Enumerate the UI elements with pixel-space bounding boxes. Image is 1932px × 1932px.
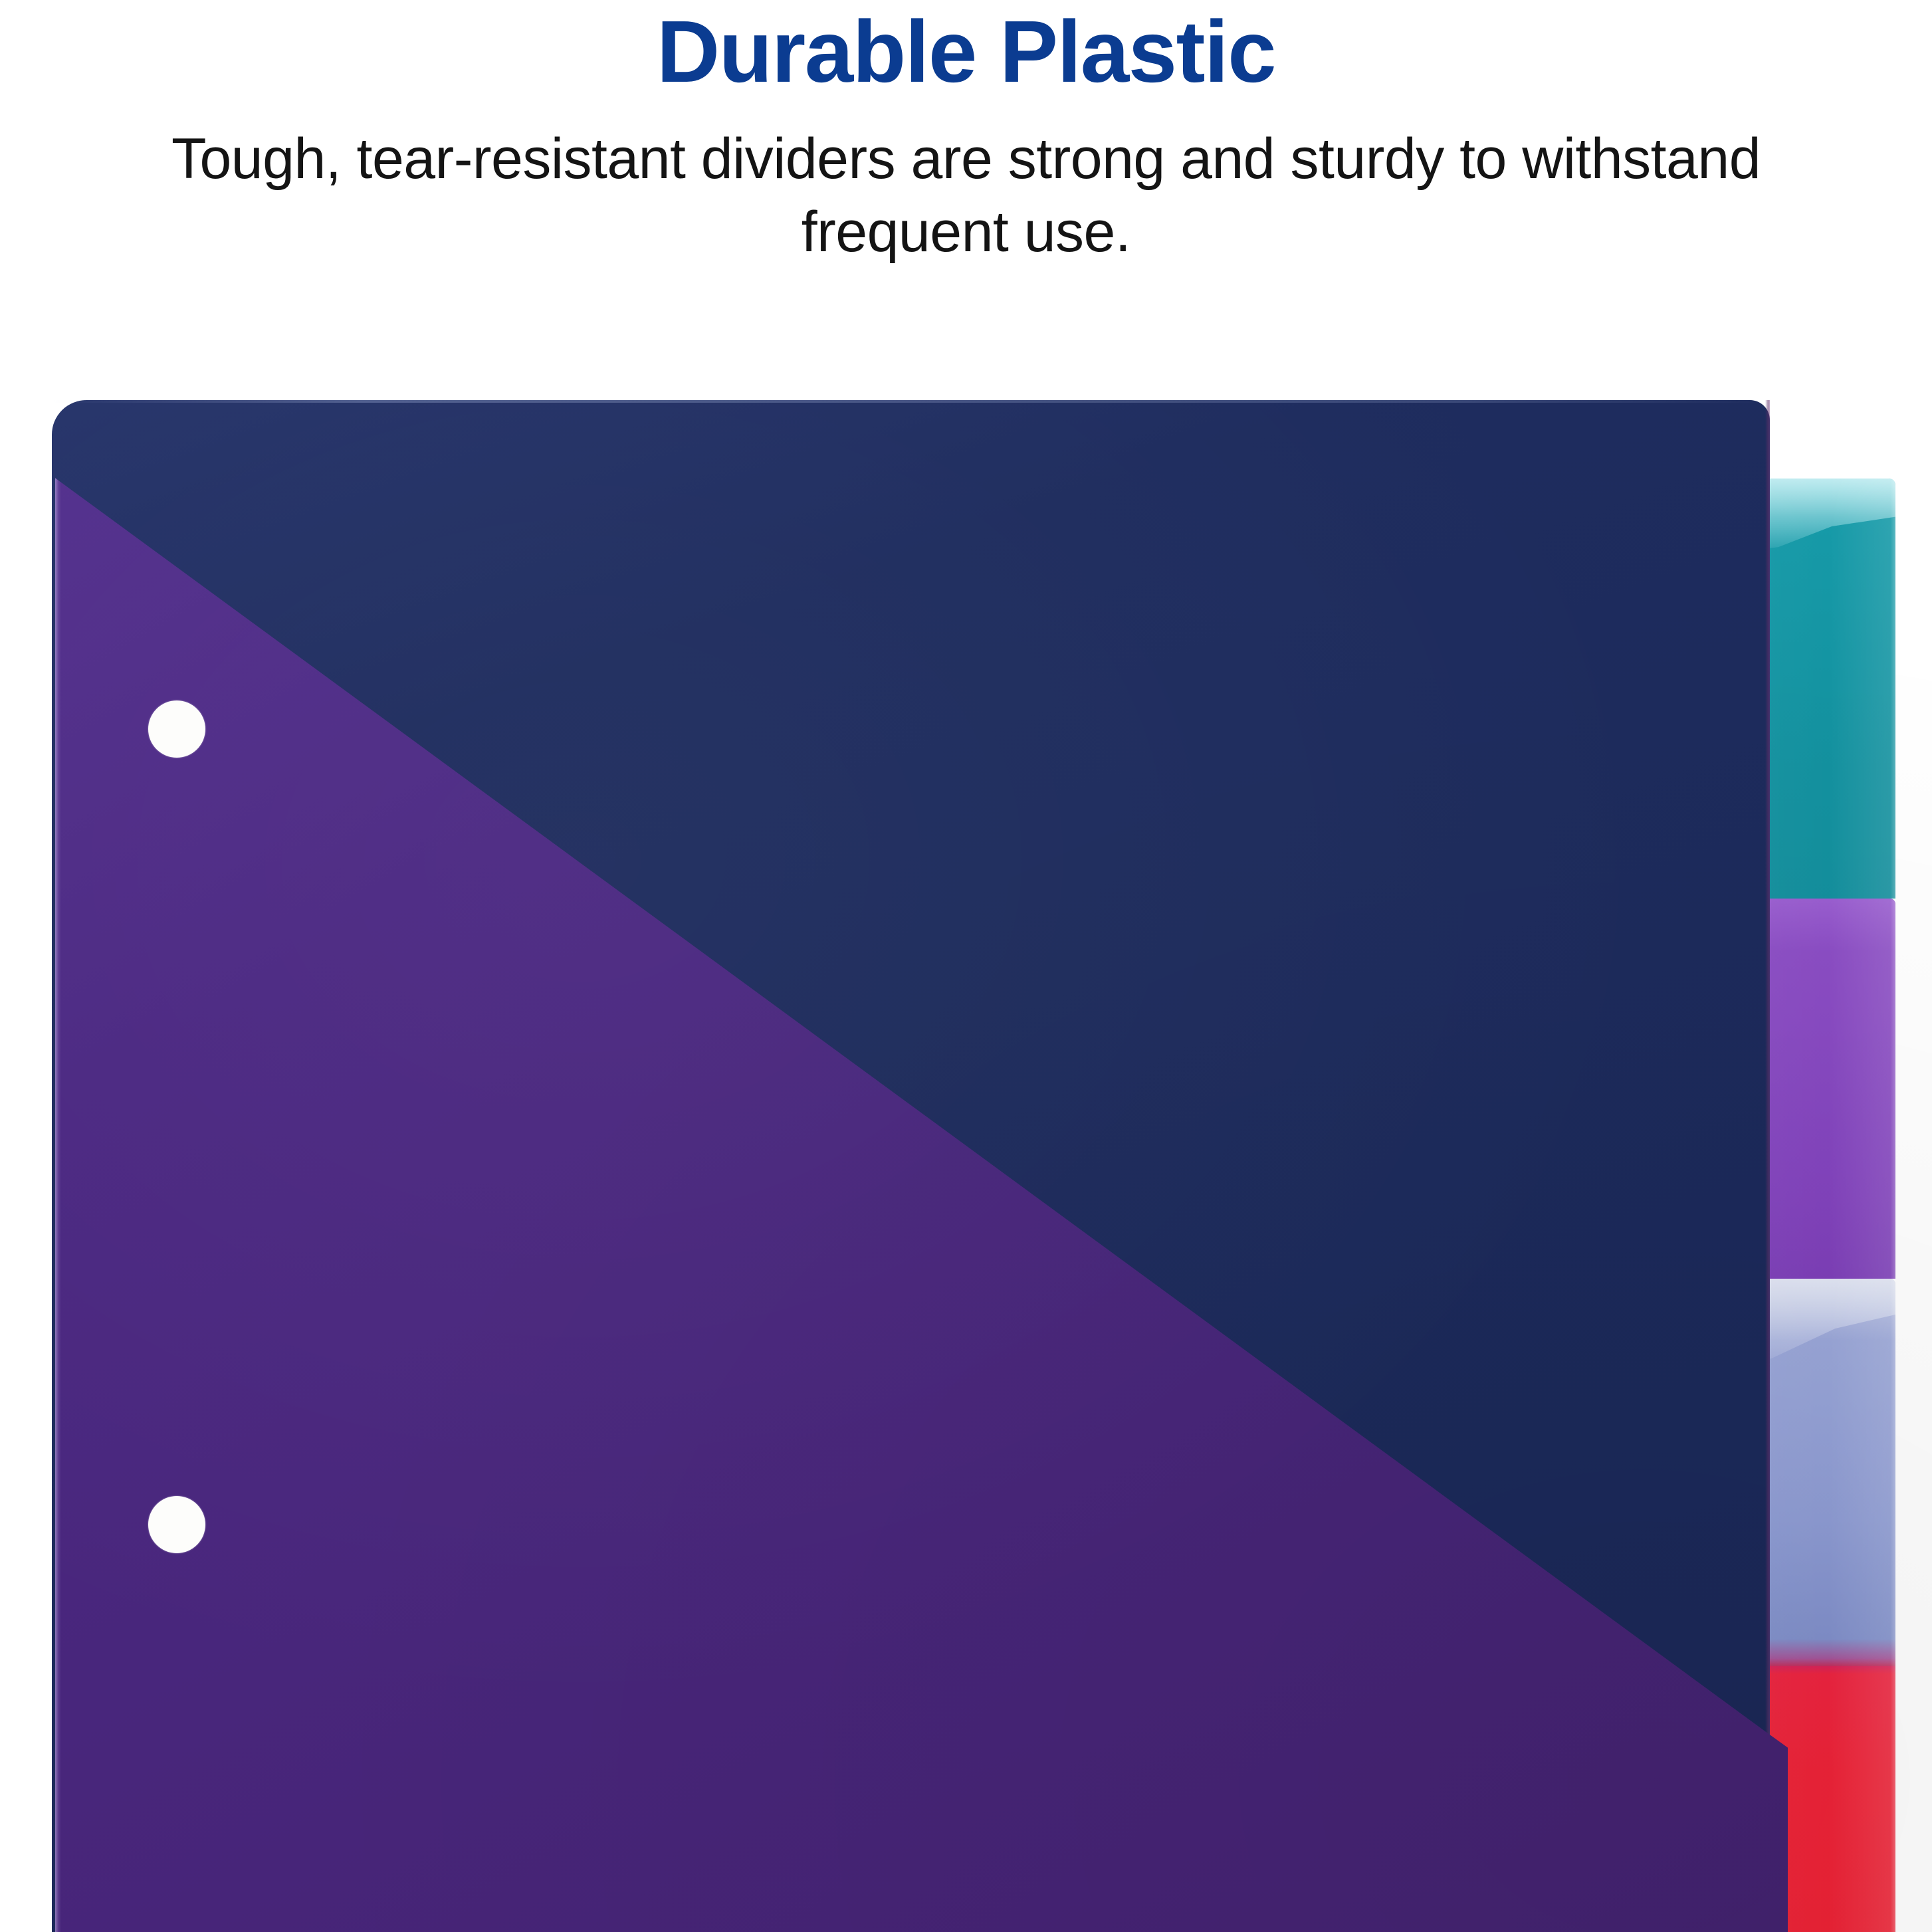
punch-hole-top [148, 700, 205, 758]
purple-sheet-left-edge [55, 469, 61, 1932]
product-photo [0, 400, 1932, 1932]
product-feature-card: Durable Plastic Tough, tear-resistant di… [0, 0, 1932, 1932]
navy-sheet-right-edge [1765, 400, 1770, 1932]
text-block: Durable Plastic Tough, tear-resistant di… [0, 0, 1932, 268]
page-title: Durable Plastic [0, 5, 1932, 98]
punch-hole-bottom [148, 1496, 205, 1553]
navy-sheet-top-highlight [52, 400, 1770, 403]
page-subtitle: Tough, tear-resistant dividers are stron… [96, 122, 1837, 268]
